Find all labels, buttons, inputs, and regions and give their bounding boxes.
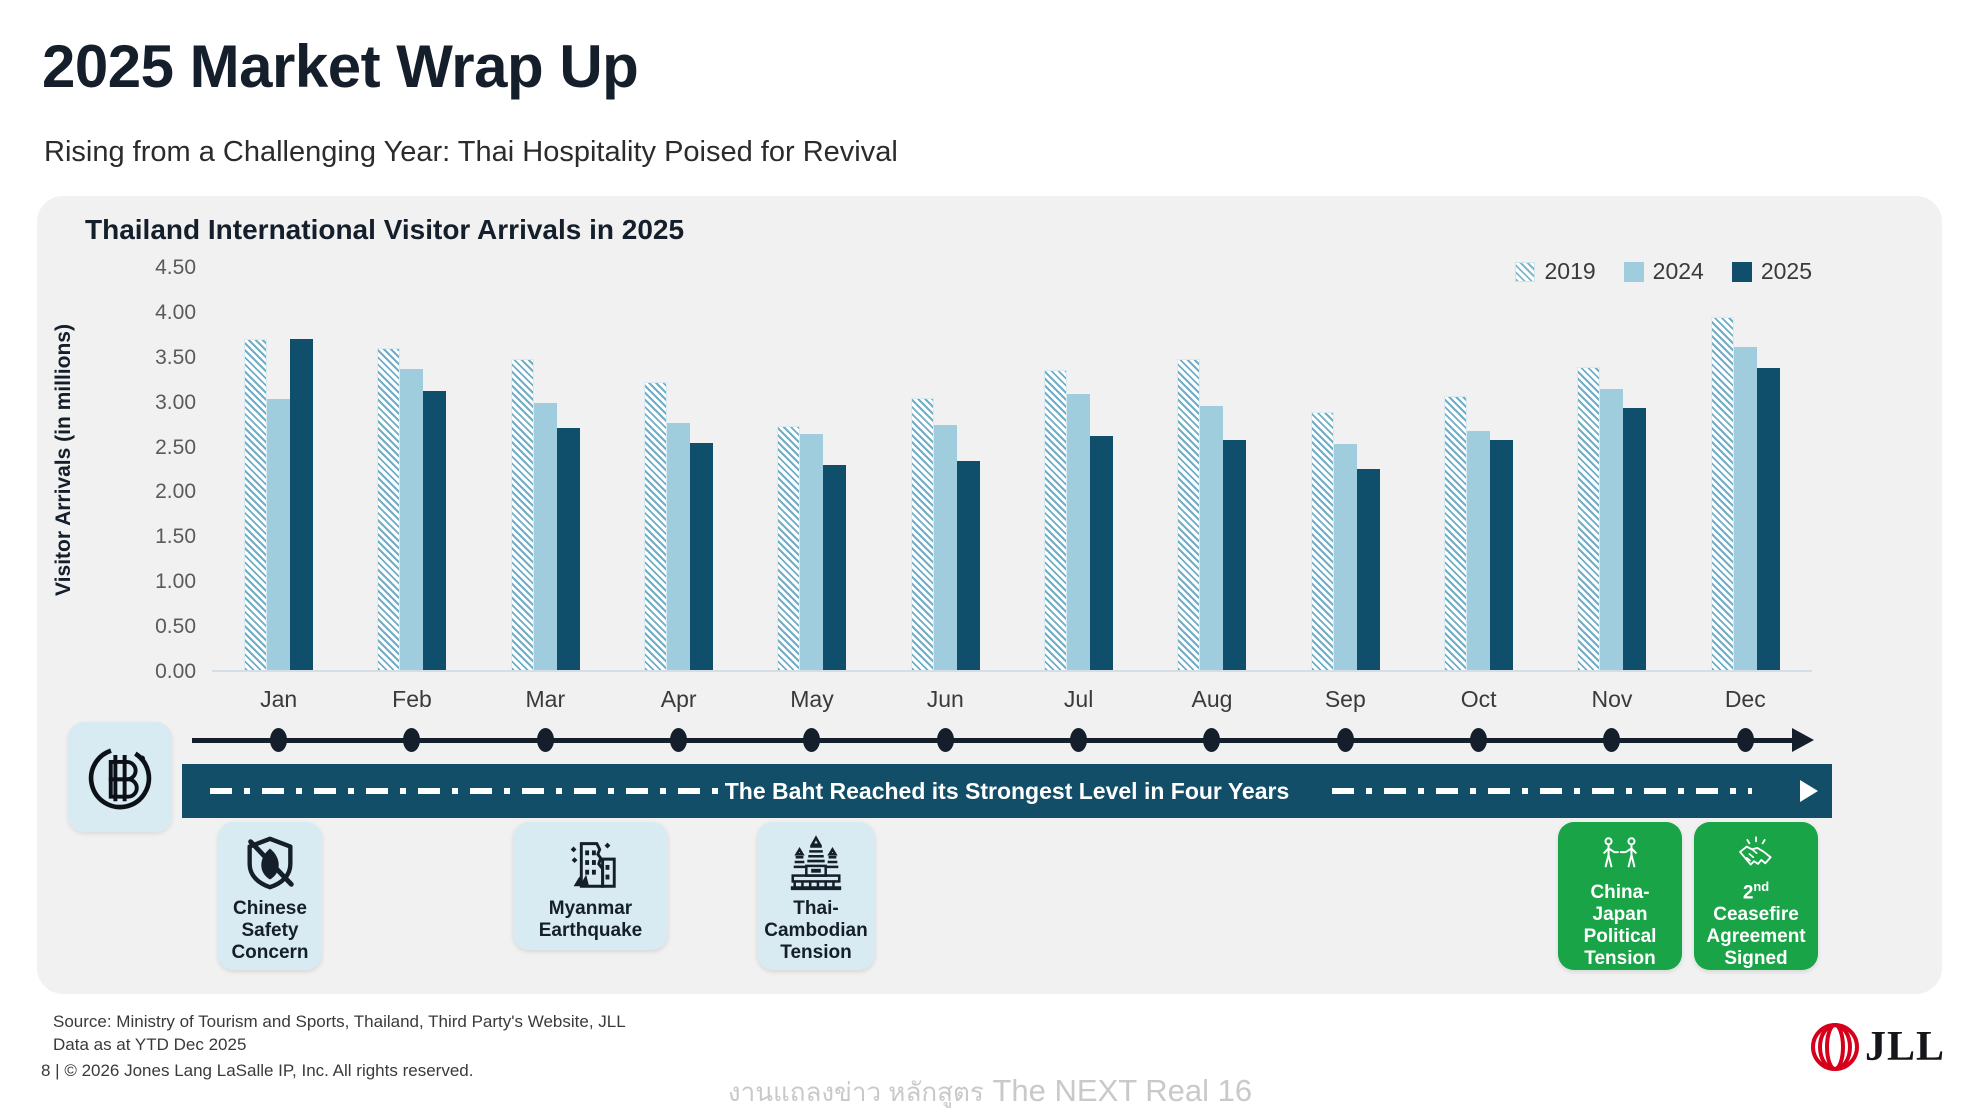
bar-2024-Jul[interactable] [1067, 394, 1090, 670]
banner-text: The Baht Reached its Strongest Level in … [725, 778, 1290, 805]
event-card-china-japan-political-tension[interactable]: China-JapanPoliticalTension [1558, 822, 1682, 970]
timeline-dot-Jan[interactable] [270, 728, 287, 752]
ceasefire-superscript: nd [1753, 879, 1769, 894]
month-label-Jun: Jun [879, 686, 1012, 713]
bar-group [1145, 268, 1278, 670]
damaged-building-icon [560, 832, 622, 894]
timeline-dot-Feb[interactable] [403, 728, 420, 752]
event-card-ceasefire-agreement-signed[interactable]: 2nd CeasefireAgreementSigned [1694, 822, 1818, 970]
bar-2024-Apr[interactable] [667, 423, 690, 670]
baht-icon-card[interactable] [68, 722, 172, 832]
bar-2019-Dec[interactable] [1711, 317, 1734, 670]
chart-title: Thailand International Visitor Arrivals … [85, 214, 684, 246]
bar-2019-Aug[interactable] [1177, 359, 1200, 670]
event-card-label: MyanmarEarthquake [533, 898, 648, 942]
baht-currency-icon [83, 740, 157, 814]
bar-2024-Dec[interactable] [1734, 347, 1757, 670]
bar-2025-Jan[interactable] [290, 339, 313, 670]
bar-group [745, 268, 878, 670]
bar-group [612, 268, 745, 670]
source-line-1: Source: Ministry of Tourism and Sports, … [53, 1011, 626, 1034]
bar-2024-Oct[interactable] [1467, 431, 1490, 670]
banner-dash-right-icon [1332, 788, 1752, 794]
month-label-Feb: Feb [345, 686, 478, 713]
page-title: 2025 Market Wrap Up [42, 32, 638, 101]
slide-root: 2025 Market Wrap Up Rising from a Challe… [0, 0, 1980, 1113]
ceasefire-prefix: 2 [1743, 882, 1754, 903]
timeline-dot-Jul[interactable] [1070, 728, 1087, 752]
month-label-Dec: Dec [1679, 686, 1812, 713]
source-line-2: Data as at YTD Dec 2025 [53, 1034, 626, 1057]
event-timeline [192, 728, 1832, 752]
month-label-Sep: Sep [1279, 686, 1412, 713]
event-card-myanmar-earthquake[interactable]: MyanmarEarthquake [513, 822, 668, 950]
bar-2019-Apr[interactable] [644, 382, 667, 670]
bar-group [1545, 268, 1678, 670]
y-tick-label: 3.00 [155, 391, 196, 415]
bar-2019-Feb[interactable] [377, 348, 400, 670]
bar-2025-Apr[interactable] [690, 443, 713, 670]
month-label-Nov: Nov [1545, 686, 1678, 713]
jll-mark-icon [1809, 1022, 1861, 1072]
bar-2019-Jun[interactable] [911, 398, 934, 670]
month-label-Oct: Oct [1412, 686, 1545, 713]
bar-2024-Aug[interactable] [1200, 406, 1223, 670]
bar-2019-Jan[interactable] [244, 339, 267, 670]
timeline-dots [212, 728, 1812, 752]
timeline-dot-May[interactable] [803, 728, 820, 752]
bar-2025-Sep[interactable] [1357, 469, 1380, 670]
timeline-dot-Jun[interactable] [937, 728, 954, 752]
y-tick-label: 4.00 [155, 301, 196, 325]
banner-arrow-icon [1800, 780, 1818, 802]
bar-2024-Feb[interactable] [400, 369, 423, 670]
bar-group [345, 268, 478, 670]
bar-2025-Mar[interactable] [557, 428, 580, 670]
y-tick-label: 0.50 [155, 615, 196, 639]
event-card-label: ChineseSafetyConcern [225, 898, 314, 964]
shield-off-icon [239, 832, 301, 894]
bar-2024-May[interactable] [800, 434, 823, 670]
event-card-label: 2nd CeasefireAgreementSigned [1694, 879, 1818, 970]
bar-group [1279, 268, 1412, 670]
bar-2019-Mar[interactable] [511, 359, 534, 670]
month-label-Apr: Apr [612, 686, 745, 713]
bar-group [479, 268, 612, 670]
bar-2025-Jul[interactable] [1090, 436, 1113, 670]
handshake-icon [1725, 832, 1787, 875]
event-caption: งานแถลงข่าว หลักสูตร The NEXT Real 16 [0, 1072, 1980, 1113]
y-tick-label: 1.00 [155, 570, 196, 594]
x-axis-baseline [212, 670, 1812, 672]
baht-banner: The Baht Reached its Strongest Level in … [182, 764, 1832, 818]
y-axis-title: Visitor Arrivals (in millions) [52, 0, 76, 300]
event-card-chinese-safety-concern[interactable]: ChineseSafetyConcern [218, 822, 322, 970]
bar-group [212, 268, 345, 670]
timeline-dot-Dec[interactable] [1737, 728, 1754, 752]
temple-icon [785, 832, 847, 894]
event-caption-thai: งานแถลงข่าว หลักสูตร [728, 1077, 984, 1107]
month-label-Mar: Mar [479, 686, 612, 713]
bar-group [1012, 268, 1145, 670]
event-card-thai-cambodian-tension[interactable]: Thai-CambodianTension [757, 822, 875, 970]
bar-2019-May[interactable] [777, 426, 800, 670]
y-tick-label: 3.50 [155, 346, 196, 370]
bar-2025-Feb[interactable] [423, 391, 446, 670]
bar-2019-Sep[interactable] [1311, 412, 1334, 670]
y-tick-label: 1.50 [155, 525, 196, 549]
bar-2019-Oct[interactable] [1444, 396, 1467, 670]
banner-dash-left-icon [210, 788, 730, 794]
bar-2024-Jan[interactable] [267, 399, 290, 670]
source-note: Source: Ministry of Tourism and Sports, … [53, 1011, 626, 1057]
y-tick-label: 2.50 [155, 436, 196, 460]
month-label-Jul: Jul [1012, 686, 1145, 713]
bar-2025-Jun[interactable] [957, 461, 980, 670]
tug-of-war-icon [1589, 832, 1651, 878]
bar-2025-Oct[interactable] [1490, 440, 1513, 670]
bar-groups [212, 268, 1812, 670]
jll-logo-text: JLL [1865, 1023, 1945, 1071]
event-card-label: Thai-CambodianTension [758, 898, 873, 964]
month-label-Aug: Aug [1145, 686, 1278, 713]
x-axis-month-labels: JanFebMarAprMayJunJulAugSepOctNovDec [212, 686, 1812, 713]
jll-logo: JLL [1809, 1022, 1945, 1072]
bar-2024-Nov[interactable] [1600, 389, 1623, 670]
bar-group [1679, 268, 1812, 670]
chart-plot-area: 0.000.501.001.502.002.503.003.504.004.50 [212, 268, 1812, 672]
timeline-dot-Mar[interactable] [537, 728, 554, 752]
bar-group [1412, 268, 1545, 670]
event-card-label: China-JapanPoliticalTension [1558, 882, 1682, 970]
timeline-dot-Oct[interactable] [1470, 728, 1487, 752]
timeline-dot-Aug[interactable] [1203, 728, 1220, 752]
bar-2025-Aug[interactable] [1223, 440, 1246, 670]
timeline-dot-Nov[interactable] [1603, 728, 1620, 752]
bar-2024-Sep[interactable] [1334, 444, 1357, 670]
bar-group [879, 268, 1012, 670]
bar-2024-Jun[interactable] [934, 425, 957, 670]
event-caption-name: The NEXT Real 16 [992, 1073, 1252, 1108]
month-label-May: May [745, 686, 878, 713]
page-subtitle: Rising from a Challenging Year: Thai Hos… [44, 136, 898, 169]
month-label-Jan: Jan [212, 686, 345, 713]
timeline-dot-Sep[interactable] [1337, 728, 1354, 752]
y-tick-label: 0.00 [155, 660, 196, 684]
bar-2025-Dec[interactable] [1757, 368, 1780, 670]
timeline-dot-Apr[interactable] [670, 728, 687, 752]
bar-2024-Mar[interactable] [534, 403, 557, 670]
bar-2019-Jul[interactable] [1044, 370, 1067, 670]
bar-2025-May[interactable] [823, 465, 846, 670]
y-tick-label: 2.00 [155, 480, 196, 504]
y-tick-label: 4.50 [155, 256, 196, 280]
bar-2025-Nov[interactable] [1623, 408, 1646, 670]
bar-2019-Nov[interactable] [1577, 367, 1600, 670]
